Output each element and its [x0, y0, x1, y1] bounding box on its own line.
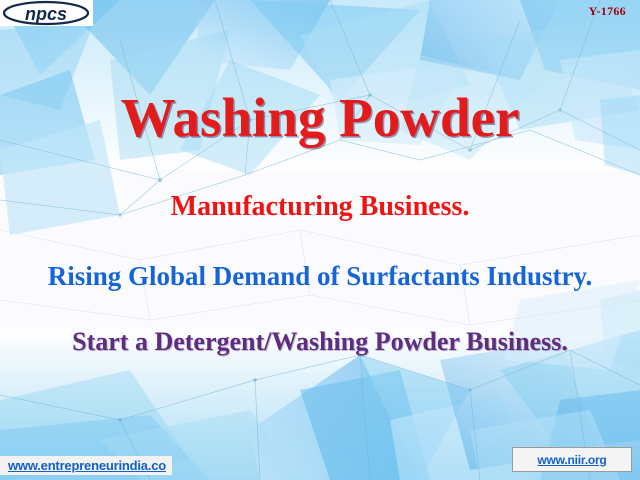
headline-block: Washing Powder Manufacturing Business. R…: [0, 0, 640, 480]
niir-link[interactable]: www.niir.org: [537, 453, 606, 467]
page-title: Washing Powder: [0, 88, 640, 148]
subtitle-start-business: Start a Detergent/Washing Powder Busines…: [0, 325, 640, 359]
subtitle-manufacturing: Manufacturing Business.: [0, 190, 640, 224]
slide-canvas: npcs Y-1766 Washing Powder Manufacturing…: [0, 0, 640, 480]
entrepreneurindia-link[interactable]: www.entrepreneurindia.co: [0, 456, 172, 475]
subtitle-demand: Rising Global Demand of Surfactants Indu…: [0, 259, 640, 293]
niir-link-box[interactable]: www.niir.org: [512, 447, 632, 472]
